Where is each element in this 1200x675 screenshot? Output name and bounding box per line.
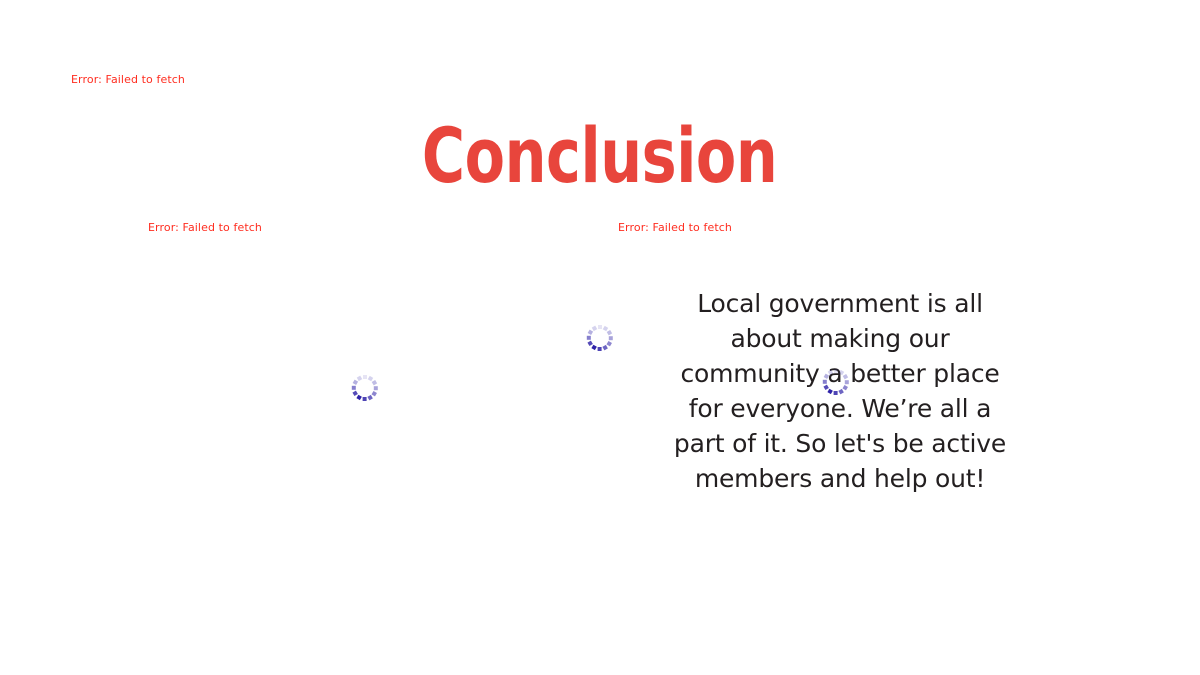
error-message-top-left: Error: Failed to fetch (71, 73, 185, 86)
error-message-mid-left: Error: Failed to fetch (148, 221, 262, 234)
page-title: Conclusion (422, 112, 777, 200)
page-title-container: Conclusion (0, 112, 1200, 200)
error-message-mid-right: Error: Failed to fetch (618, 221, 732, 234)
loading-spinner-center-icon (587, 325, 613, 351)
loading-spinner-left-icon (352, 375, 378, 401)
loading-spinner-text-overlay-icon (823, 369, 849, 395)
slide-canvas: Error: Failed to fetch Conclusion Error:… (0, 0, 1200, 675)
